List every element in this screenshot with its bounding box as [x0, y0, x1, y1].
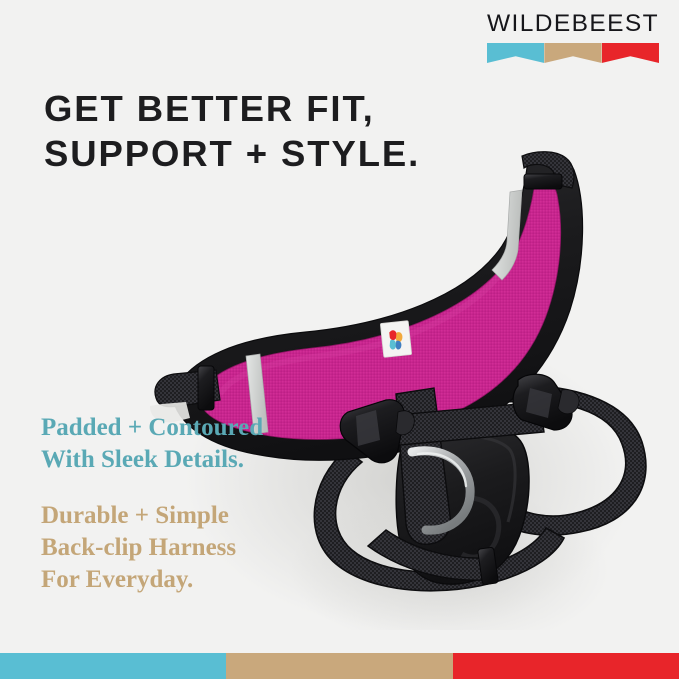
headline-line-1: GET BETTER FIT, — [44, 86, 514, 131]
caption-tan-line-2: Back-clip Harness — [41, 532, 236, 564]
caption-durable-simple: Durable + Simple Back-clip Harness For E… — [41, 500, 236, 596]
brand-wordmark: WILDEBEEST — [483, 10, 663, 38]
buckle-left-prong — [356, 410, 380, 446]
caption-tan-line-3: For Everyday. — [41, 564, 236, 596]
brand-bar-tan — [544, 43, 601, 63]
top-strap-slider — [524, 174, 562, 189]
buckle-right-latch — [558, 390, 579, 414]
caption-teal-line-1: Padded + Contoured — [41, 412, 263, 444]
brand-logo: WILDEBEEST — [483, 10, 663, 62]
brand-tag — [380, 321, 411, 358]
footer-color-bar — [0, 653, 679, 679]
brand-bar-red — [602, 43, 659, 63]
caption-teal-line-2: With Sleek Details. — [41, 444, 263, 476]
footer-band-red — [453, 653, 679, 679]
caption-padded-contoured: Padded + Contoured With Sleek Details. — [41, 412, 263, 476]
caption-tan-line-1: Durable + Simple — [41, 500, 236, 532]
brand-bar-cyan — [487, 43, 544, 63]
product-marketing-image: WILDEBEEST GET BETTER FIT, SUPPORT + STY… — [0, 0, 679, 679]
footer-band-cyan — [0, 653, 226, 679]
footer-band-tan — [226, 653, 452, 679]
left-strap-slider — [198, 366, 214, 410]
brand-chevron-bars — [487, 43, 659, 63]
